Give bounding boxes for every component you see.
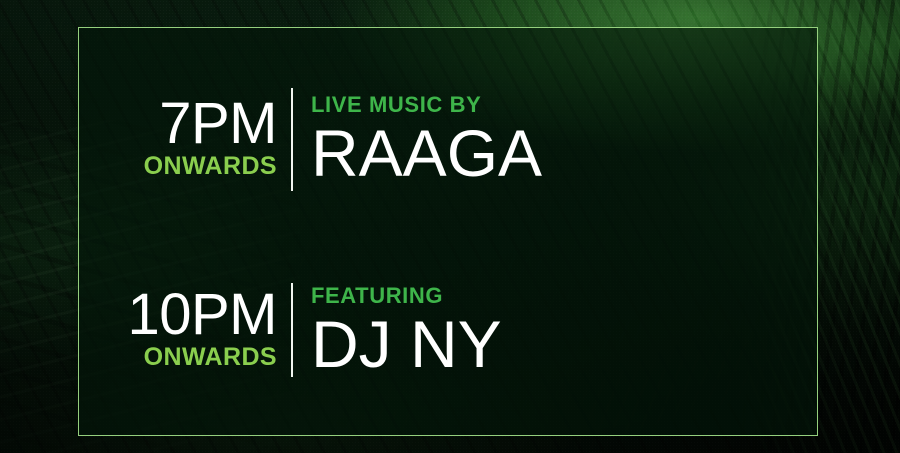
lineup-slot-2: 10PM ONWARDS FEATURING DJ NY bbox=[79, 268, 817, 392]
slot-1-time-column: 7PM ONWARDS bbox=[79, 96, 291, 182]
slot-1-time-suffix: ONWARDS bbox=[79, 151, 277, 182]
slot-1-act-name: RAAGA bbox=[311, 120, 542, 186]
slot-2-act-name: DJ NY bbox=[311, 311, 502, 377]
slot-2-time-column: 10PM ONWARDS bbox=[79, 287, 291, 373]
event-lineup-poster: 7PM ONWARDS LIVE MUSIC BY RAAGA 10PM ONW… bbox=[0, 0, 900, 453]
slot-2-time-suffix: ONWARDS bbox=[79, 342, 277, 373]
slot-1-time: 7PM bbox=[79, 96, 277, 151]
slot-2-kicker: FEATURING bbox=[311, 283, 502, 308]
slot-1-kicker: LIVE MUSIC BY bbox=[311, 92, 542, 117]
lineup-frame: 7PM ONWARDS LIVE MUSIC BY RAAGA 10PM ONW… bbox=[78, 27, 818, 436]
lineup-slot-1: 7PM ONWARDS LIVE MUSIC BY RAAGA bbox=[79, 74, 817, 204]
slot-2-time: 10PM bbox=[79, 287, 277, 342]
slot-2-act-column: FEATURING DJ NY bbox=[293, 283, 502, 376]
slot-1-act-column: LIVE MUSIC BY RAAGA bbox=[293, 92, 542, 185]
